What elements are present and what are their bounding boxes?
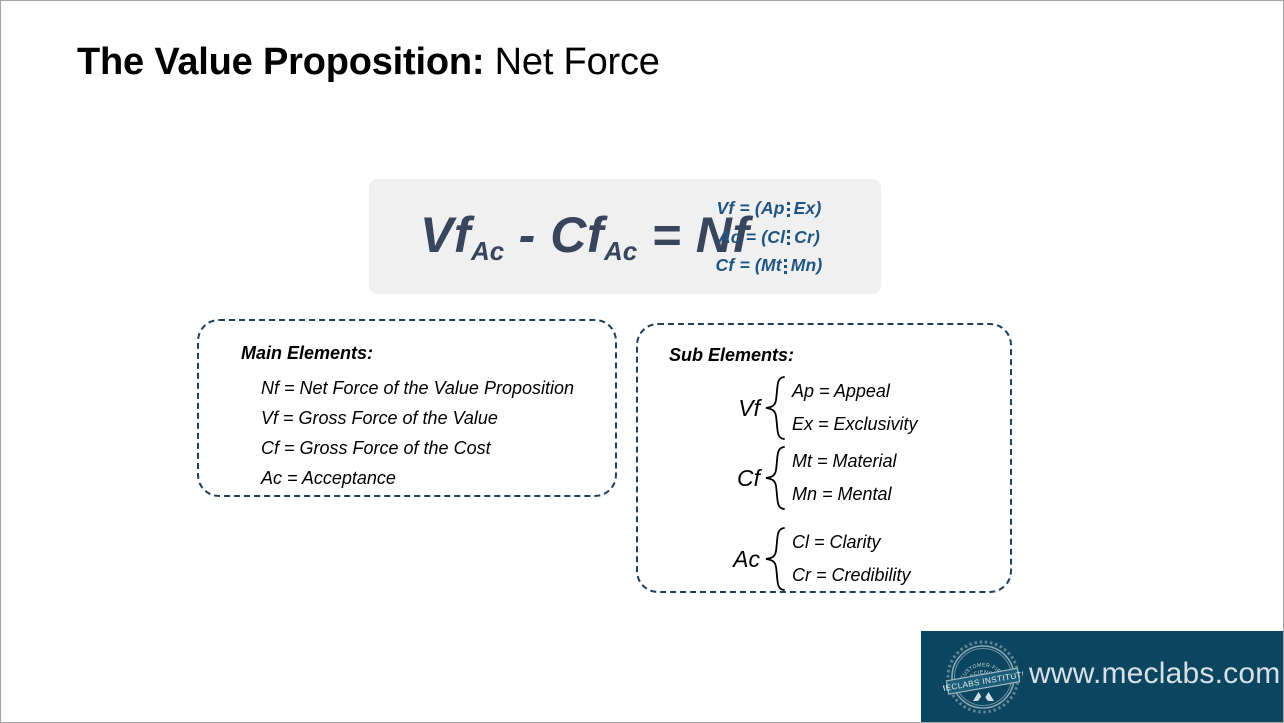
- side-equation-ac: Ac = (ClCr): [684, 223, 854, 252]
- list-item: Ap = Appeal: [792, 375, 918, 408]
- side-equation-vf: Vf = (ApEx): [684, 194, 854, 223]
- list-item: Ex = Exclusivity: [792, 408, 918, 441]
- list-item: Nf = Net Force of the Value Proposition: [261, 373, 574, 403]
- page-title: The Value Proposition: Net Force: [77, 39, 660, 85]
- equation-term-1: Vf: [420, 207, 471, 263]
- sub-elements-groups: Vf Ap = Appeal Ex = Exclusivity Cf: [718, 373, 918, 594]
- list-item: Mt = Material: [792, 445, 897, 478]
- equation-equals: =: [652, 207, 682, 263]
- page-title-light: Net Force: [484, 41, 659, 83]
- sub-group-items: Ap = Appeal Ex = Exclusivity: [792, 375, 918, 441]
- sub-group-label: Ac: [718, 546, 760, 573]
- list-item: Vf = Gross Force of the Value: [261, 403, 574, 433]
- curly-brace-icon: [762, 526, 788, 592]
- sub-element-group-vf: Vf Ap = Appeal Ex = Exclusivity: [718, 373, 918, 443]
- side-equation-list: Vf = (ApEx) Ac = (ClCr) Cf = (MtMn): [684, 194, 854, 280]
- website-url: www.meclabs.com: [1029, 657, 1280, 691]
- page-title-bold: The Value Proposition:: [77, 41, 484, 83]
- slide-canvas: The Value Proposition: Net Force VfAc - …: [0, 0, 1284, 723]
- sub-group-label: Cf: [718, 465, 760, 492]
- side-equation-cf-left: Cf = (Mt: [716, 255, 782, 275]
- curly-brace-icon: [762, 375, 788, 441]
- dotted-separator-icon: [785, 201, 794, 219]
- sub-group-items: Mt = Material Mn = Mental: [792, 445, 897, 511]
- side-equation-cf: Cf = (MtMn): [684, 251, 854, 280]
- side-equation-ac-left: Ac = (Cl: [718, 227, 785, 247]
- side-equation-vf-right: Ex): [794, 198, 822, 218]
- main-elements-heading: Main Elements:: [241, 343, 373, 364]
- list-item: Cf = Gross Force of the Cost: [261, 433, 574, 463]
- main-elements-list: Nf = Net Force of the Value Proposition …: [261, 373, 574, 493]
- sub-group-items: Cl = Clarity Cr = Credibility: [792, 526, 911, 592]
- dotted-separator-icon: [782, 258, 791, 276]
- sub-element-group-ac: Ac Cl = Clarity Cr = Credibility: [718, 524, 918, 594]
- main-elements-box: Main Elements: Nf = Net Force of the Val…: [197, 319, 617, 497]
- side-equation-cf-right: Mn): [791, 255, 823, 275]
- equation-term-2-subscript: Ac: [604, 236, 637, 266]
- footer-logo-bar: CUSTOMER-FIRST SCIENCE MECLABS INSTITUTE: [921, 631, 1284, 723]
- list-item: Cl = Clarity: [792, 526, 911, 559]
- side-equation-ac-right: Cr): [794, 227, 820, 247]
- equation-operator: -: [519, 207, 536, 263]
- sub-element-group-cf: Cf Mt = Material Mn = Mental: [718, 443, 918, 513]
- sub-group-label: Vf: [718, 395, 760, 422]
- list-item: Ac = Acceptance: [261, 463, 574, 493]
- list-item: Cr = Credibility: [792, 559, 911, 592]
- formula-panel: VfAc - CfAc = Nf Vf = (ApEx) Ac = (ClCr)…: [369, 179, 881, 294]
- sub-elements-box: Sub Elements: Vf Ap = Appeal Ex = Exclus…: [636, 323, 1012, 593]
- meclabs-seal-icon: CUSTOMER-FIRST SCIENCE MECLABS INSTITUTE: [943, 637, 1023, 717]
- equation-term-2: Cf: [550, 207, 604, 263]
- list-item: Mn = Mental: [792, 478, 897, 511]
- curly-brace-icon: [762, 445, 788, 511]
- sub-elements-heading: Sub Elements:: [669, 345, 794, 366]
- dotted-separator-icon: [785, 229, 794, 247]
- equation-term-1-subscript: Ac: [471, 236, 504, 266]
- side-equation-vf-left: Vf = (Ap: [716, 198, 784, 218]
